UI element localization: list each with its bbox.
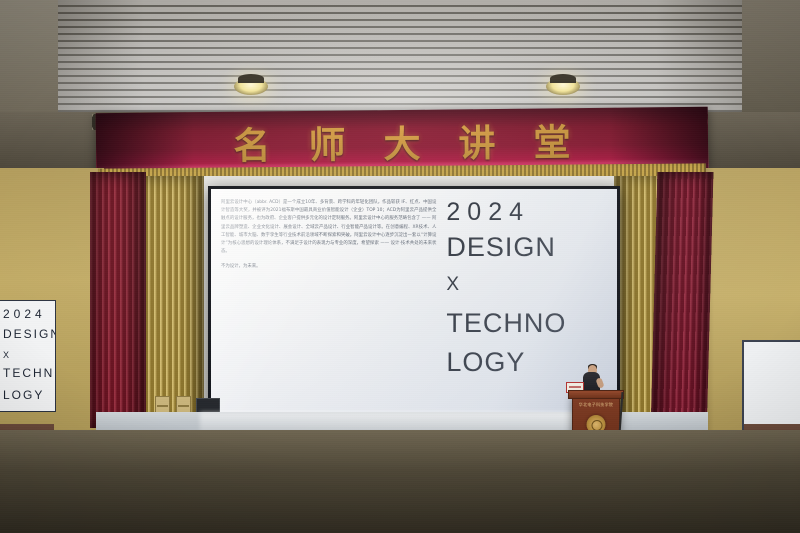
- side-display-line-2: DESIGN: [3, 325, 56, 344]
- curtain-gold-left: [142, 176, 204, 426]
- ceiling-panels: [0, 0, 800, 118]
- ceiling-spotlight-left: [234, 78, 268, 95]
- slide-paragraph-main: 阿里云设计中心（abbr. ACD）是一个成立10年、多背景、跨学科的年轻化团队…: [221, 199, 436, 256]
- side-display-line-3: X: [3, 346, 11, 365]
- ceiling-edge-right: [742, 0, 800, 118]
- slide-title-design: DESIGN: [446, 227, 617, 267]
- side-display-line-1: 2024: [3, 305, 46, 324]
- side-display-line-4: TECHNO: [3, 364, 56, 383]
- auditorium-photo: 名师大讲堂 2024 DESIGN X TECHNO LOGY 阿里云设计中心（…: [0, 0, 800, 533]
- podium-institution-text: 华北电子科技学院: [573, 402, 619, 408]
- ceiling-shading: [0, 0, 800, 118]
- slide-text-column: 阿里云设计中心（abbr. ACD）是一个成立10年、多背景、跨学科的年轻化团队…: [211, 189, 442, 417]
- ceiling-edge-left: [0, 0, 58, 118]
- slide-title-techno: TECHNO: [446, 303, 617, 343]
- projection-screen: 阿里云设计中心（abbr. ACD）是一个成立10年、多背景、跨学科的年轻化团队…: [211, 189, 617, 417]
- slide-title-year: 2024: [446, 197, 617, 227]
- projection-screen-frame: 阿里云设计中心（abbr. ACD）是一个成立10年、多背景、跨学科的年轻化团队…: [208, 186, 620, 420]
- curtain-red-right: [651, 172, 714, 434]
- podium-top-surface: [568, 390, 624, 399]
- audience-area: [0, 430, 800, 533]
- slide-title-x: X: [446, 267, 617, 303]
- slide-paragraph-tagline: 不为设计，为未来。: [221, 263, 436, 271]
- side-display-line-5: LOGY: [3, 386, 44, 405]
- curtain-red-left: [90, 172, 146, 428]
- ceiling-spotlight-right: [546, 78, 580, 95]
- side-display-left: 2024 DESIGN X TECHNO LOGY: [0, 300, 56, 412]
